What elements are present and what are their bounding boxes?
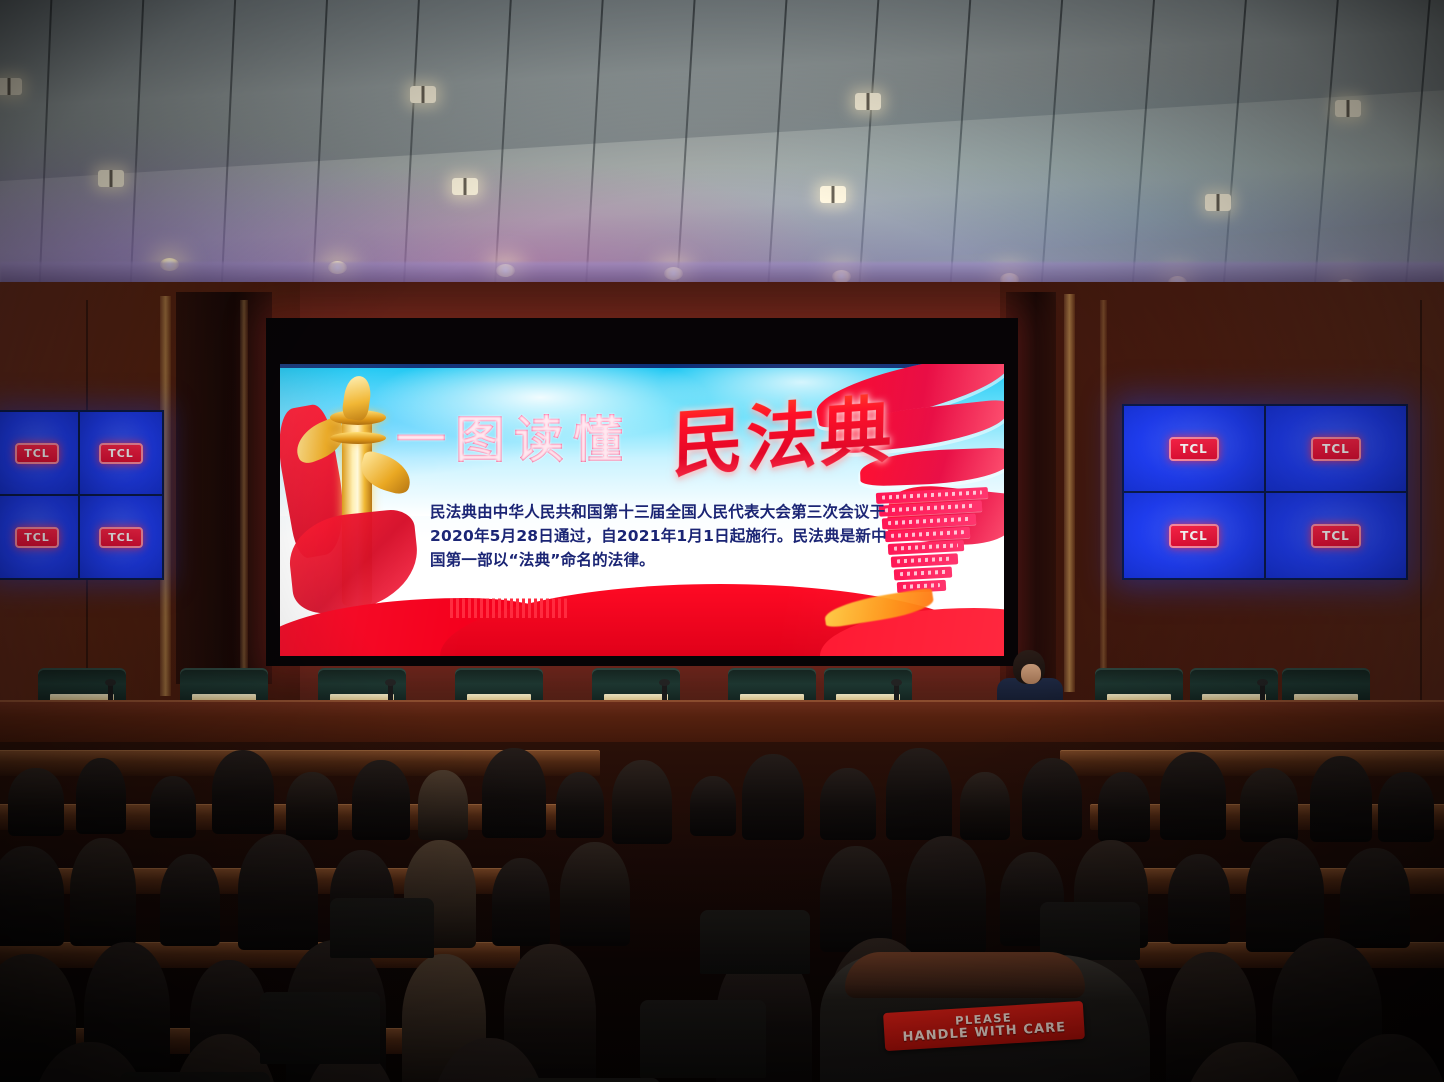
- banner-strip: [891, 553, 958, 567]
- tcl-logo: TCL: [1169, 437, 1219, 461]
- audience-seat-back: [260, 992, 380, 1064]
- video-wall-panel[interactable]: TCL: [0, 496, 78, 578]
- video-wall-panel[interactable]: TCL: [1266, 406, 1406, 491]
- audience-member: [556, 772, 604, 838]
- video-wall-panel[interactable]: TCL: [80, 496, 162, 578]
- audience-member: [1378, 772, 1434, 842]
- audience-member: [612, 760, 672, 844]
- audience-member: [1098, 772, 1150, 842]
- audience-member: [160, 854, 220, 946]
- video-wall-panel[interactable]: TCL: [80, 412, 162, 494]
- audience-seat-back: [120, 1072, 270, 1082]
- tcl-logo: TCL: [99, 527, 143, 548]
- screen-headline-calligraphy: 民法典: [671, 370, 894, 491]
- wall-seam-right: [1420, 300, 1422, 700]
- video-wall-panel[interactable]: TCL: [1124, 406, 1264, 491]
- wall-trim-right-1: [1064, 294, 1075, 692]
- audience-member: [418, 770, 468, 840]
- city-skyline-silhouette: [450, 590, 570, 618]
- audience-member: [1168, 854, 1230, 944]
- foreground-jacket-hood: [845, 952, 1085, 998]
- audience-member: [1246, 838, 1324, 952]
- ceiling-spotlight: [410, 86, 436, 103]
- tcl-logo: TCL: [1311, 524, 1361, 548]
- audience-member: [70, 838, 136, 946]
- audience-member: [0, 846, 64, 946]
- audience-member: [1022, 758, 1082, 840]
- audience-member: [1310, 756, 1372, 842]
- audience-member: [286, 772, 338, 840]
- audience-member: [212, 750, 274, 834]
- audience-member: [960, 772, 1010, 840]
- audience-member: [886, 748, 952, 840]
- ceiling-light-tint: [0, 0, 1444, 300]
- audience-member: [150, 776, 196, 838]
- audience-member: [238, 834, 318, 950]
- video-wall-panel[interactable]: TCL: [0, 412, 78, 494]
- tcl-logo: TCL: [99, 443, 143, 464]
- screen-headline-main: 一图读懂: [396, 400, 632, 472]
- audience-member: [492, 858, 550, 946]
- conference-hall-scene: 一图读懂 民法典 民法典由中华人民共和国第十三届全国人民代表大会第三次会议于20…: [0, 0, 1444, 1082]
- audience-member: [1340, 848, 1410, 948]
- audience-seat-back: [640, 1000, 766, 1078]
- video-wall-left[interactable]: TCLTCLTCLTCL: [0, 410, 164, 580]
- ceiling-spotlight: [1205, 194, 1231, 211]
- audience-member: [820, 768, 876, 840]
- pillar-ring-mid: [330, 432, 386, 444]
- screen-body-paragraph: 民法典由中华人民共和国第十三届全国人民代表大会第三次会议于2020年5月28日通…: [430, 500, 900, 572]
- audience-seat-back: [1040, 902, 1140, 960]
- audience-member: [560, 842, 630, 946]
- audience-area: [0, 742, 1444, 1082]
- ceiling: [0, 0, 1444, 300]
- audience-member: [1240, 768, 1298, 842]
- ceiling-spotlight: [0, 78, 22, 95]
- ceiling-spotlight: [452, 178, 478, 195]
- screen-surround-left: [176, 292, 272, 684]
- audience-member: [482, 748, 546, 838]
- wall-trim-left-2: [240, 300, 248, 692]
- banner-strip: [894, 566, 952, 580]
- audience-member: [820, 846, 892, 952]
- screen-top-edge: [280, 364, 1004, 368]
- head-table: [0, 700, 1444, 748]
- ceiling-spotlight: [98, 170, 124, 187]
- speaker-face: [1021, 664, 1041, 684]
- video-wall-right[interactable]: TCLTCLTCLTCL: [1122, 404, 1408, 580]
- audience-member: [742, 754, 804, 840]
- ceiling-spotlight: [820, 186, 846, 203]
- audience-member: [8, 768, 64, 836]
- tcl-logo: TCL: [15, 527, 59, 548]
- tcl-logo: TCL: [1169, 524, 1219, 548]
- ceiling-spotlight: [1335, 100, 1361, 117]
- audience-member: [1160, 752, 1226, 840]
- tcl-logo: TCL: [15, 443, 59, 464]
- audience-member: [690, 776, 736, 836]
- video-wall-panel[interactable]: TCL: [1124, 493, 1264, 578]
- patch-line-2: HANDLE WITH CARE: [902, 1021, 1066, 1045]
- audience-member: [906, 836, 986, 954]
- audience-seat-back: [700, 910, 810, 974]
- wall-trim-right-2: [1100, 300, 1107, 692]
- audience-member: [352, 760, 410, 840]
- video-wall-panel[interactable]: TCL: [1266, 493, 1406, 578]
- audience-member: [76, 758, 126, 834]
- ceiling-spotlight: [855, 93, 881, 110]
- led-screen[interactable]: 一图读懂 民法典 民法典由中华人民共和国第十三届全国人民代表大会第三次会议于20…: [280, 364, 1004, 656]
- audience-seat-back: [330, 898, 434, 958]
- tcl-logo: TCL: [1311, 437, 1361, 461]
- audience-seat-back: [520, 1078, 660, 1082]
